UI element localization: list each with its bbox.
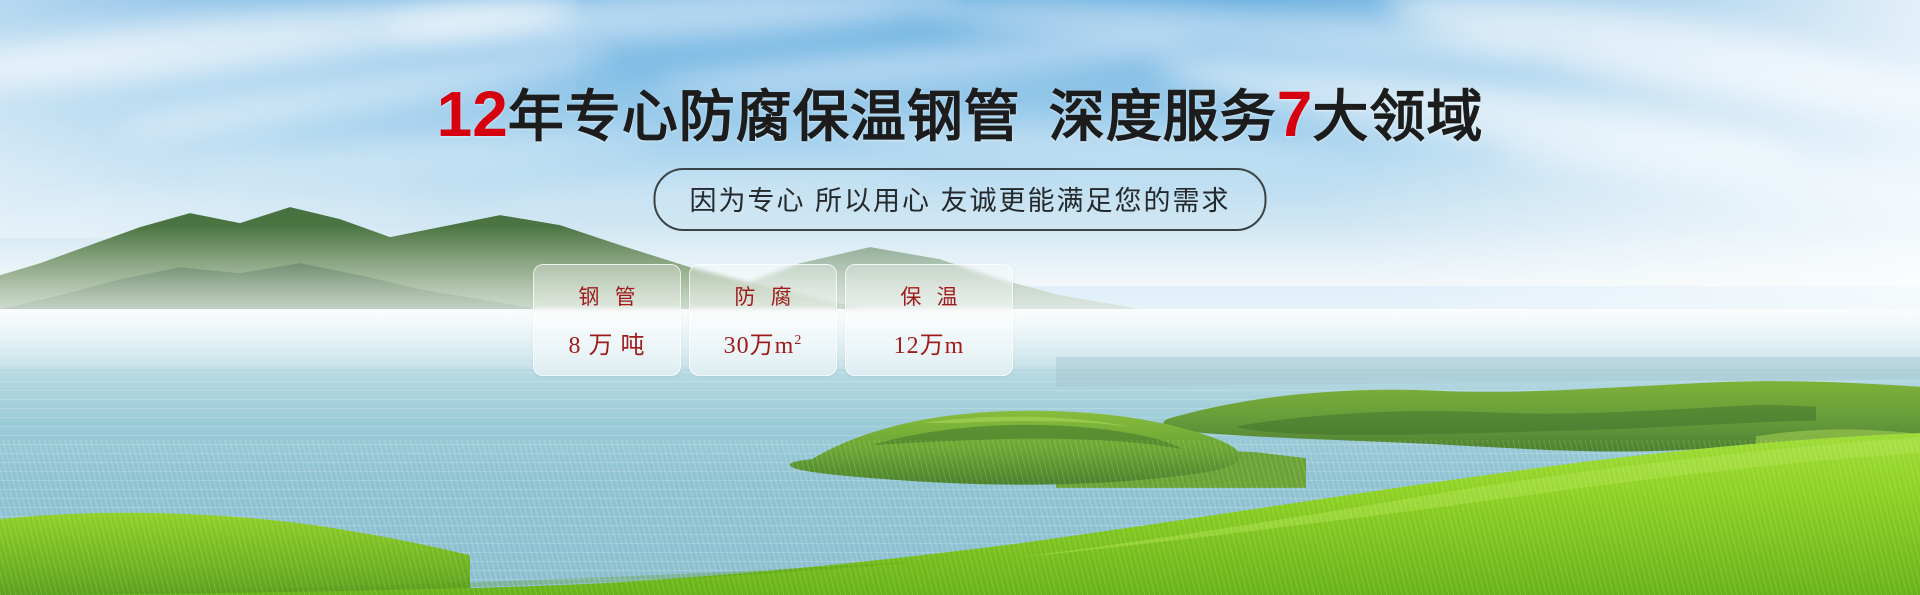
banner-content: 12年专心防腐保温钢管深度服务7大领域 因为专心 所以用心 友诚更能满足您的需求… [0,0,1920,595]
stat-value: 30万m2 [724,325,803,360]
stat-card-steel-pipe[interactable]: 钢 管 8 万 吨 [533,264,681,376]
hero-banner: 12年专心防腐保温钢管深度服务7大领域 因为专心 所以用心 友诚更能满足您的需求… [0,0,1920,595]
stat-card-insulation[interactable]: 保 温 12万m [845,264,1013,376]
stats-card-group: 钢 管 8 万 吨 防 腐 30万m2 保 温 12万m [533,264,1013,376]
stat-value: 8 万 吨 [569,325,646,360]
headline-fields-number: 7 [1277,78,1313,150]
stat-label: 防 腐 [729,281,796,311]
headline-years-number: 12 [437,78,508,150]
stat-label: 保 温 [895,281,962,311]
page-title: 12年专心防腐保温钢管深度服务7大领域 [0,82,1920,146]
headline-fields-suffix: 大领域 [1312,85,1483,148]
stat-unit-exponent: 2 [794,333,802,348]
tagline-pill: 因为专心 所以用心 友诚更能满足您的需求 [653,168,1266,231]
stat-value: 12万m [894,325,965,360]
headline-years-suffix: 年 [508,85,565,148]
headline-middle: 专心防腐保温钢管 [565,85,1021,148]
headline-service-prefix: 深度服务 [1049,85,1277,148]
stat-label: 钢 管 [573,281,640,311]
stat-card-anticorrosion[interactable]: 防 腐 30万m2 [689,264,837,376]
